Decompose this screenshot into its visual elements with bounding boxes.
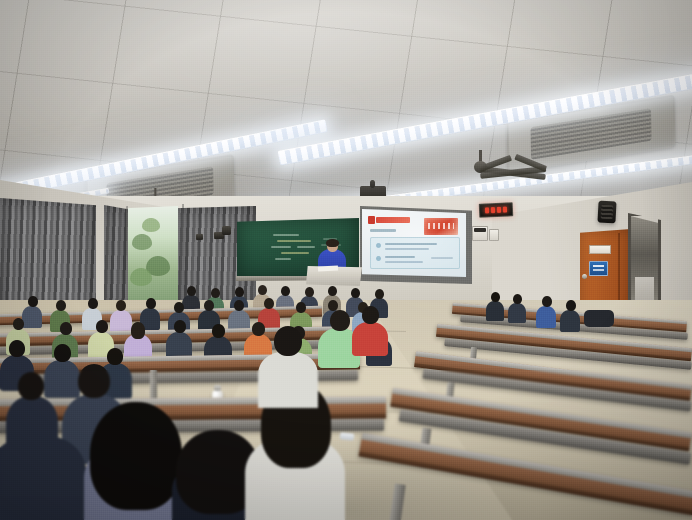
student bbox=[352, 306, 388, 352]
slide-logo bbox=[368, 216, 375, 224]
paper-sheet bbox=[318, 265, 338, 271]
student bbox=[560, 300, 580, 328]
projector-mount bbox=[370, 180, 375, 188]
student bbox=[0, 436, 86, 520]
slide-graphic bbox=[424, 218, 458, 235]
wall-mounted-fixture bbox=[196, 234, 203, 240]
door-placard bbox=[589, 261, 608, 276]
student-backpack bbox=[584, 310, 614, 327]
wall-mounted-camera bbox=[222, 226, 231, 235]
wall-switch-plate bbox=[489, 229, 499, 241]
student bbox=[508, 294, 526, 320]
door-room-sign bbox=[589, 245, 611, 254]
lecture-hall-photo bbox=[0, 0, 692, 520]
wall-speaker bbox=[597, 201, 616, 224]
student bbox=[258, 326, 318, 402]
student bbox=[486, 292, 504, 318]
smartphone-2[interactable] bbox=[340, 432, 355, 440]
slide-title-bar bbox=[376, 217, 410, 223]
projection-screen bbox=[362, 209, 466, 277]
desk-support-leg bbox=[150, 370, 157, 400]
lecturer-hair bbox=[326, 239, 339, 247]
door-handle[interactable] bbox=[582, 274, 587, 279]
slide-subtitle bbox=[370, 229, 396, 232]
student-hair bbox=[90, 402, 182, 510]
slide-body-panel bbox=[370, 237, 460, 269]
student bbox=[166, 320, 192, 354]
student bbox=[536, 296, 556, 324]
curtain-left bbox=[104, 205, 128, 311]
exit-sign bbox=[479, 202, 514, 217]
wall-control-panel bbox=[472, 226, 488, 241]
